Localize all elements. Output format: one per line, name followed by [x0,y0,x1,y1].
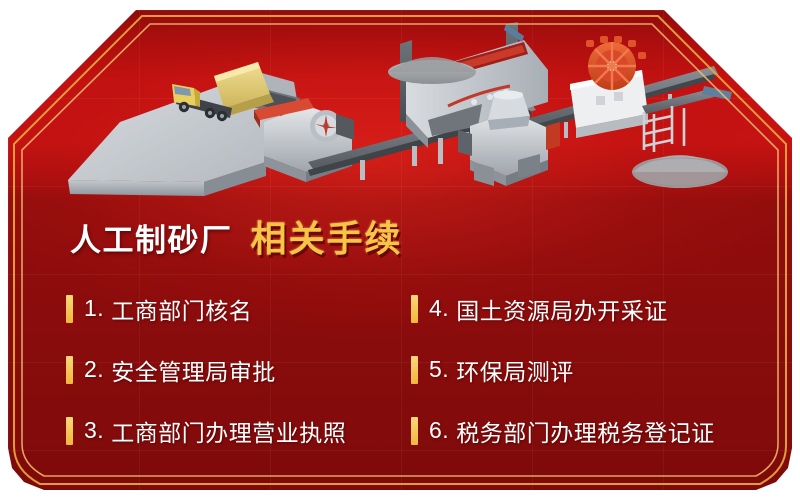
list-item: 2. 安全管理局审批 [66,339,411,400]
list-item-index: 5. [429,356,449,383]
wheel-sand-washer-group [570,36,648,138]
list-item-label: 工商部门核名 [104,292,252,326]
headline-highlight: 相关手续 [251,210,403,262]
list-item-label: 环保局测评 [449,353,574,387]
bullet-bar-icon [411,295,418,323]
page-title: 人工制砂厂 相关手续 [70,210,403,258]
headline-primary: 人工制砂厂 [70,215,233,260]
jaw-crusher-group [254,98,354,182]
list-item-index: 2. [84,356,104,383]
bullet-bar-icon [66,417,73,445]
list-item: 5. 环保局测评 [411,339,766,400]
list-item: 3. 工商部门办理营业执照 [66,400,411,461]
procedure-list: 1. 工商部门核名 4. 国土资源局办开采证 2. 安全管理局审批 5. 环保局… [66,278,766,461]
list-item-index: 1. [84,295,104,322]
list-item-label: 安全管理局审批 [104,353,276,387]
list-item-index: 6. [429,417,449,444]
sand-plant-illustration [8,10,792,210]
bullet-bar-icon [66,295,73,323]
list-item-label: 国土资源局办开采证 [449,292,668,326]
discharge-conveyor-group [642,86,732,152]
bullet-bar-icon [411,356,418,384]
list-item: 1. 工商部门核名 [66,278,411,339]
list-item-index: 3. [84,417,104,444]
list-item: 4. 国土资源局办开采证 [411,278,766,339]
list-item-label: 工商部门办理营业执照 [104,414,346,448]
list-item-label: 税务部门办理税务登记证 [449,414,715,448]
bullet-bar-icon [411,417,418,445]
list-item-index: 4. [429,295,449,322]
list-item: 6. 税务部门办理税务登记证 [411,400,766,461]
finished-sand-pile-group [632,155,728,188]
promo-banner: 人工制砂厂 相关手续 1. 工商部门核名 4. 国土资源局办开采证 2. 安全管… [8,10,792,492]
bullet-bar-icon [66,356,73,384]
